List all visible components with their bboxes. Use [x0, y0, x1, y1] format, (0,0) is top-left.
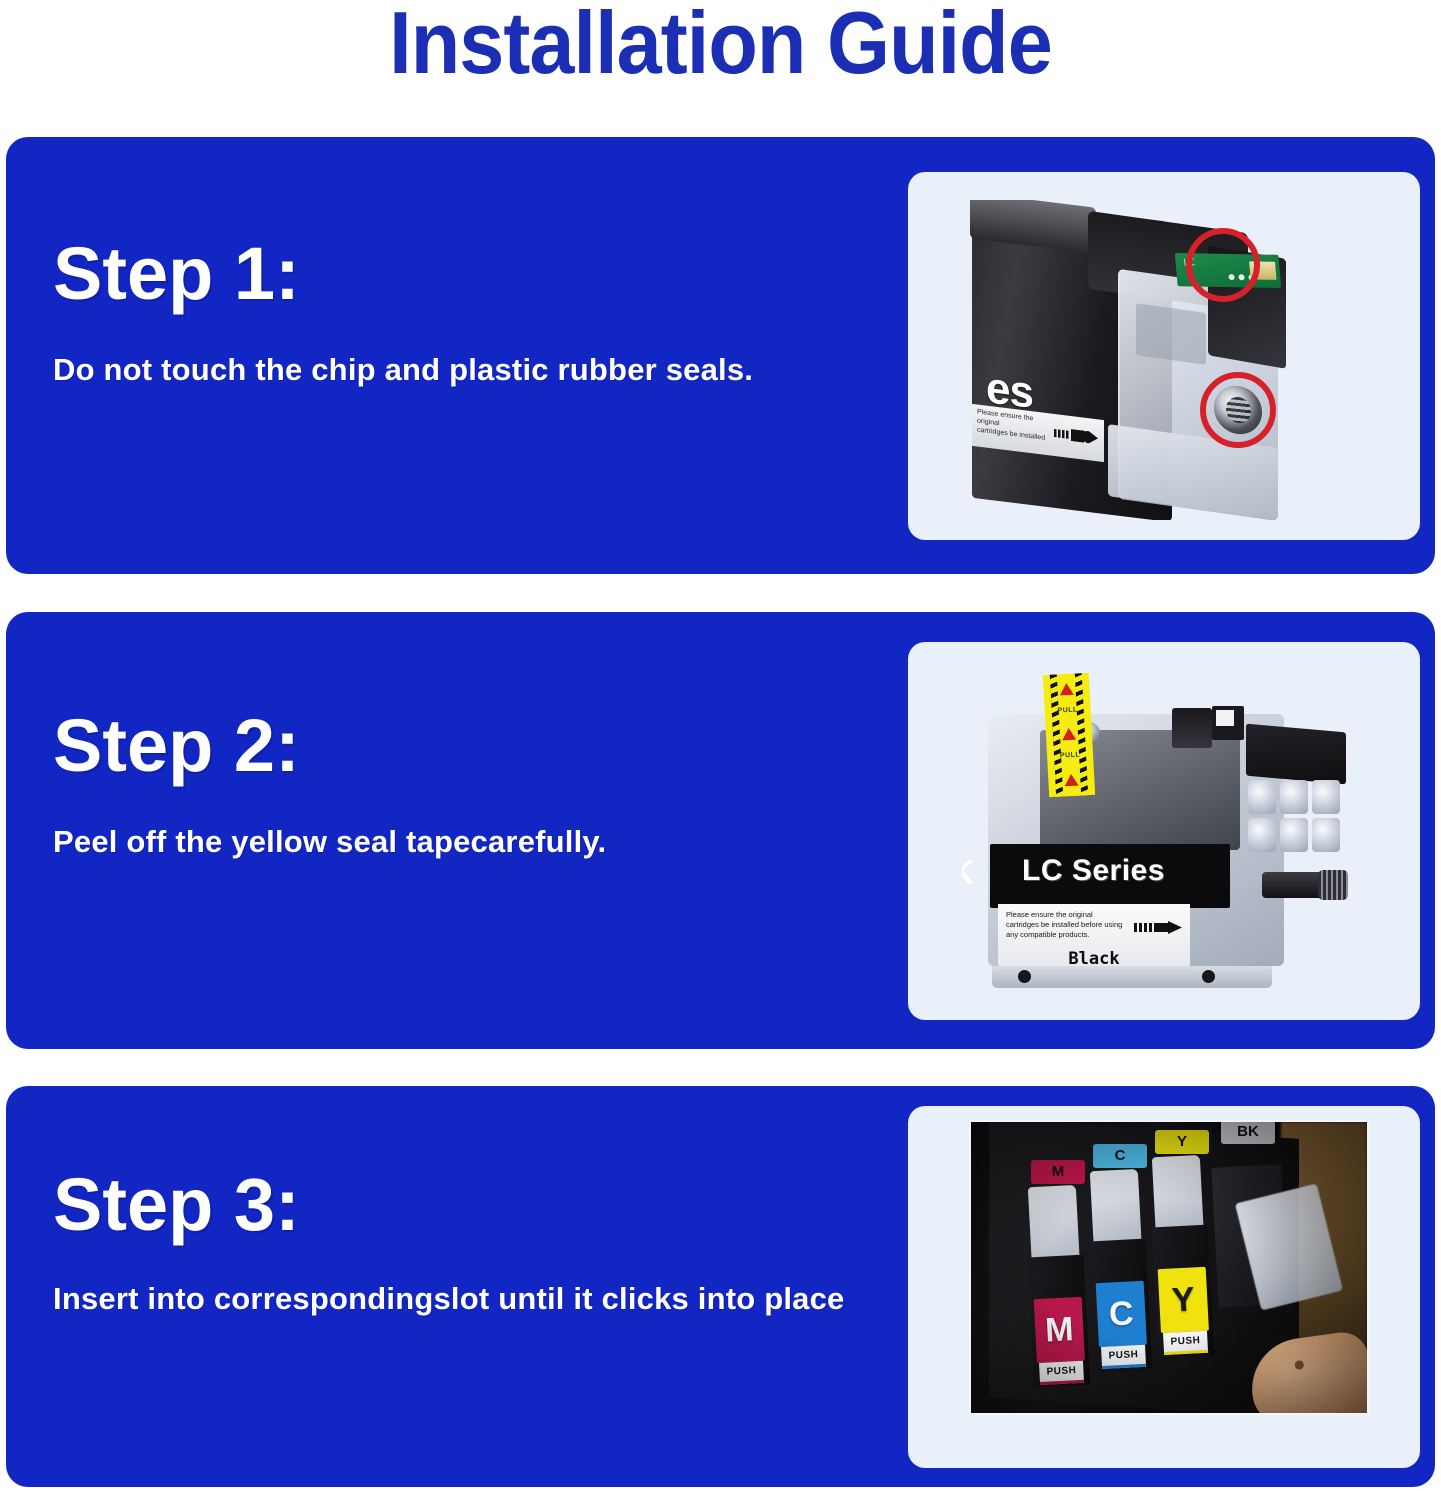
step-panel-2: Step 2: Peel off the yellow seal tapecar… — [6, 612, 1435, 1049]
yellow-pull-seal-tape: PULL PULL — [1043, 673, 1095, 797]
step-3-heading: Step 3: — [53, 1168, 300, 1242]
insert-direction-arrow-icon — [1054, 427, 1098, 444]
photo-vignette — [971, 1122, 1367, 1413]
cartridge-clear-window — [1136, 303, 1206, 365]
step-2-description: Peel off the yellow seal tapecarefully. — [53, 824, 606, 860]
cartridge-brand-label: LC Series — [990, 844, 1230, 908]
insert-direction-arrow-icon — [1134, 921, 1182, 934]
installation-guide-page: Installation Guide Step 1: Do not touch … — [0, 0, 1441, 1500]
lc-series-cartridge-yellow-tape-photo: PULL PULL K LC Series Please ensure the … — [962, 668, 1382, 998]
tape-pull-label-1: PULL — [1057, 706, 1078, 714]
step-3-description: Insert into correspondingslot until it c… — [53, 1281, 844, 1317]
cartridge-white-tab — [1212, 706, 1244, 740]
page-title: Installation Guide — [58, 0, 1384, 93]
step-panel-3: Step 3: Insert into correspondingslot un… — [6, 1086, 1435, 1487]
step-2-text-block: Step 2: Peel off the yellow seal tapecar… — [47, 612, 887, 1049]
cartridge-base — [992, 966, 1272, 988]
step-1-image-card: LC es Please ensure the originalcartridg… — [908, 172, 1420, 540]
printer-cartridge-slots-photo: M C Y BK M PUSH C PUSH — [969, 1120, 1369, 1415]
chip-highlight-circle — [1186, 228, 1260, 302]
pull-arrow-icon — [1059, 683, 1074, 696]
cartridge-ink-nozzle — [1262, 872, 1348, 898]
tape-pull-label-2: PULL — [1060, 752, 1081, 760]
step-3-text-block: Step 3: Insert into correspondingslot un… — [47, 1086, 887, 1487]
step-panel-1: Step 1: Do not touch the chip and plasti… — [6, 137, 1435, 574]
rubber-seal-highlight-circle — [1200, 372, 1276, 448]
brand-label-text: LC Series — [1022, 854, 1165, 888]
cartridge-side-letter: K — [962, 854, 975, 893]
pull-arrow-icon — [1064, 773, 1079, 786]
black-ink-cartridge-chip-photo: LC es Please ensure the originalcartridg… — [968, 200, 1368, 520]
cartridge-black-cap — [1172, 708, 1212, 748]
pull-arrow-icon — [1062, 728, 1077, 741]
cartridge-right-block — [1246, 724, 1346, 785]
step-2-image-card: PULL PULL K LC Series Please ensure the … — [908, 642, 1420, 1020]
step-3-image-card: M C Y BK M PUSH C PUSH — [908, 1106, 1420, 1468]
step-1-heading: Step 1: — [53, 237, 300, 311]
step-1-text-block: Step 1: Do not touch the chip and plasti… — [47, 137, 887, 574]
notice-label-text: Please ensure the original cartridges be… — [1006, 910, 1126, 940]
step-2-heading: Step 2: — [53, 709, 300, 783]
cartridge-small-label-text: Please ensure the originalcartridges be … — [977, 409, 1055, 445]
step-1-description: Do not touch the chip and plastic rubber… — [53, 352, 753, 388]
cartridge-foam-grid — [1248, 780, 1340, 852]
